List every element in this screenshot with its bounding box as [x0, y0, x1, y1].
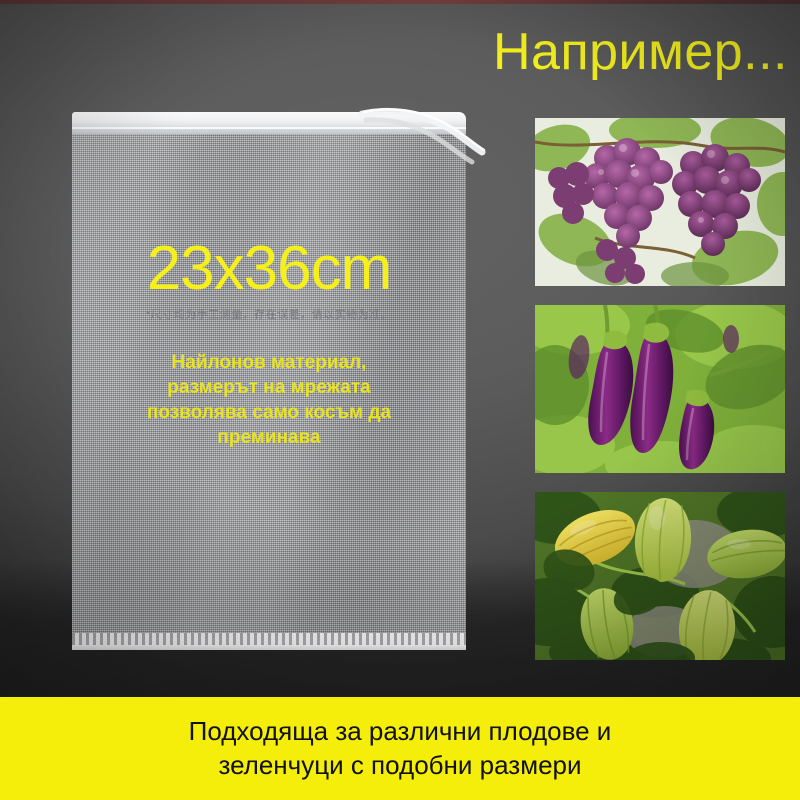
banner-line-1: Подходяща за различни плодове и — [189, 716, 612, 746]
photo-melon — [535, 492, 785, 660]
banner-text: Подходяща за различни плодове и зеленчуц… — [149, 715, 652, 782]
mesh-bag-bottom-edge — [72, 645, 466, 650]
photo-grapes — [535, 118, 785, 286]
top-accent-line — [0, 0, 800, 4]
drawstring-ribbon — [360, 100, 490, 170]
photo-eggplant — [535, 305, 785, 473]
feature-line-4: преминава — [96, 425, 442, 450]
product-advertisement-image: Например... 23x36cm *尺寸均为手工测量，存在误差，请以实物为… — [0, 0, 800, 800]
size-label: 23x36cm — [72, 238, 466, 300]
header-title: Например... — [493, 26, 788, 78]
banner-line-2: зеленчуци с подобни размери — [189, 749, 612, 782]
size-measurement-note: *尺寸均为手工测量，存在误差，请以实物为准。 — [72, 308, 466, 322]
feature-line-2: размерът на мрежата — [96, 375, 442, 400]
feature-line-1: Найлонов материал, — [96, 350, 442, 375]
feature-line-3: позволява само косъм да — [96, 400, 442, 425]
bottom-banner: Подходяща за различни плодове и зеленчуц… — [0, 697, 800, 800]
feature-description: Найлонов материал, размерът на мрежата п… — [96, 350, 442, 450]
